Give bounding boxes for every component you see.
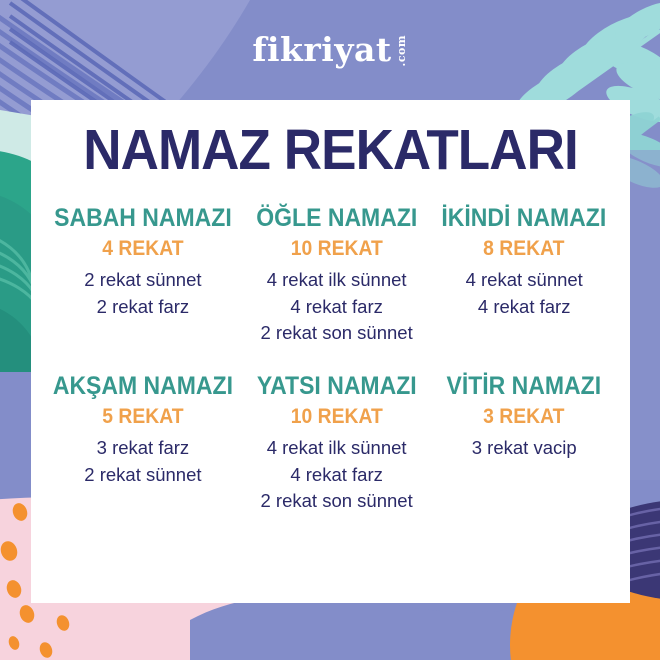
prayer-detail-list: 4 rekat ilk sünnet 4 rekat farz 2 rekat … — [245, 267, 429, 347]
prayer-grid: SABAH NAMAZI 4 REKAT 2 rekat sünnet 2 re… — [43, 205, 618, 515]
prayer-name: AKŞAM NAMAZI — [53, 373, 233, 401]
prayer-detail-line: 2 rekat sünnet — [45, 267, 241, 294]
brand-name: fikriyat — [252, 33, 391, 66]
prayer-detail-list: 2 rekat sünnet 2 rekat farz — [45, 267, 241, 321]
prayer-detail-line: 3 rekat vacip — [432, 435, 616, 462]
prayer-detail-line: 2 rekat farz — [45, 294, 241, 321]
prayer-name: İKİNDİ NAMAZI — [440, 205, 609, 233]
prayer-rekat-count: 10 REKAT — [252, 236, 421, 261]
prayer-detail-list: 4 rekat ilk sünnet 4 rekat farz 2 rekat … — [245, 435, 429, 515]
prayer-detail-line: 2 rekat son sünnet — [245, 488, 429, 515]
prayer-cell-ogle: ÖĞLE NAMAZI 10 REKAT 4 rekat ilk sünnet … — [243, 205, 431, 347]
prayer-detail-list: 4 rekat sünnet 4 rekat farz — [432, 267, 616, 321]
prayer-detail-list: 3 rekat farz 2 rekat sünnet — [45, 435, 241, 489]
prayer-name: VİTİR NAMAZI — [440, 373, 609, 401]
prayer-name: ÖĞLE NAMAZI — [252, 205, 421, 233]
fikriyat-logo[interactable]: fikriyat .com — [252, 33, 407, 67]
prayer-detail-line: 4 rekat farz — [245, 462, 429, 489]
prayer-rekat-count: 5 REKAT — [53, 404, 233, 429]
prayer-cell-vitir: VİTİR NAMAZI 3 REKAT 3 rekat vacip — [430, 373, 618, 515]
prayer-cell-ikindi: İKİNDİ NAMAZI 8 REKAT 4 rekat sünnet 4 r… — [430, 205, 618, 347]
prayer-cell-sabah: SABAH NAMAZI 4 REKAT 2 rekat sünnet 2 re… — [43, 205, 243, 347]
prayer-detail-line: 4 rekat farz — [245, 294, 429, 321]
prayer-detail-line: 4 rekat farz — [432, 294, 616, 321]
prayer-cell-aksam: AKŞAM NAMAZI 5 REKAT 3 rekat farz 2 reka… — [43, 373, 243, 515]
prayer-cell-yatsi: YATSI NAMAZI 10 REKAT 4 rekat ilk sünnet… — [243, 373, 431, 515]
right-panel-tint — [630, 150, 660, 480]
prayer-detail-line: 4 rekat ilk sünnet — [245, 267, 429, 294]
prayer-detail-line: 3 rekat farz — [45, 435, 241, 462]
prayer-rekat-count: 4 REKAT — [53, 236, 233, 261]
brand-domain-suffix: .com — [395, 35, 408, 67]
page-title: NAMAZ REKATLARI — [63, 122, 598, 179]
prayer-rekat-count: 10 REKAT — [252, 404, 421, 429]
prayer-detail-line: 2 rekat son sünnet — [245, 320, 429, 347]
prayer-name: SABAH NAMAZI — [53, 205, 233, 233]
prayer-detail-line: 2 rekat sünnet — [45, 462, 241, 489]
prayer-detail-list: 3 rekat vacip — [432, 435, 616, 462]
prayer-rekat-count: 8 REKAT — [440, 236, 609, 261]
prayer-name: YATSI NAMAZI — [252, 373, 421, 401]
infographic-poster: fikriyat .com NAMAZ REKATLARI SABAH NAMA… — [0, 0, 660, 660]
prayer-rekat-count: 3 REKAT — [440, 404, 609, 429]
prayer-detail-line: 4 rekat ilk sünnet — [245, 435, 429, 462]
brand-header: fikriyat .com — [0, 0, 660, 100]
content-card: NAMAZ REKATLARI SABAH NAMAZI 4 REKAT 2 r… — [31, 100, 630, 603]
prayer-detail-line: 4 rekat sünnet — [432, 267, 616, 294]
